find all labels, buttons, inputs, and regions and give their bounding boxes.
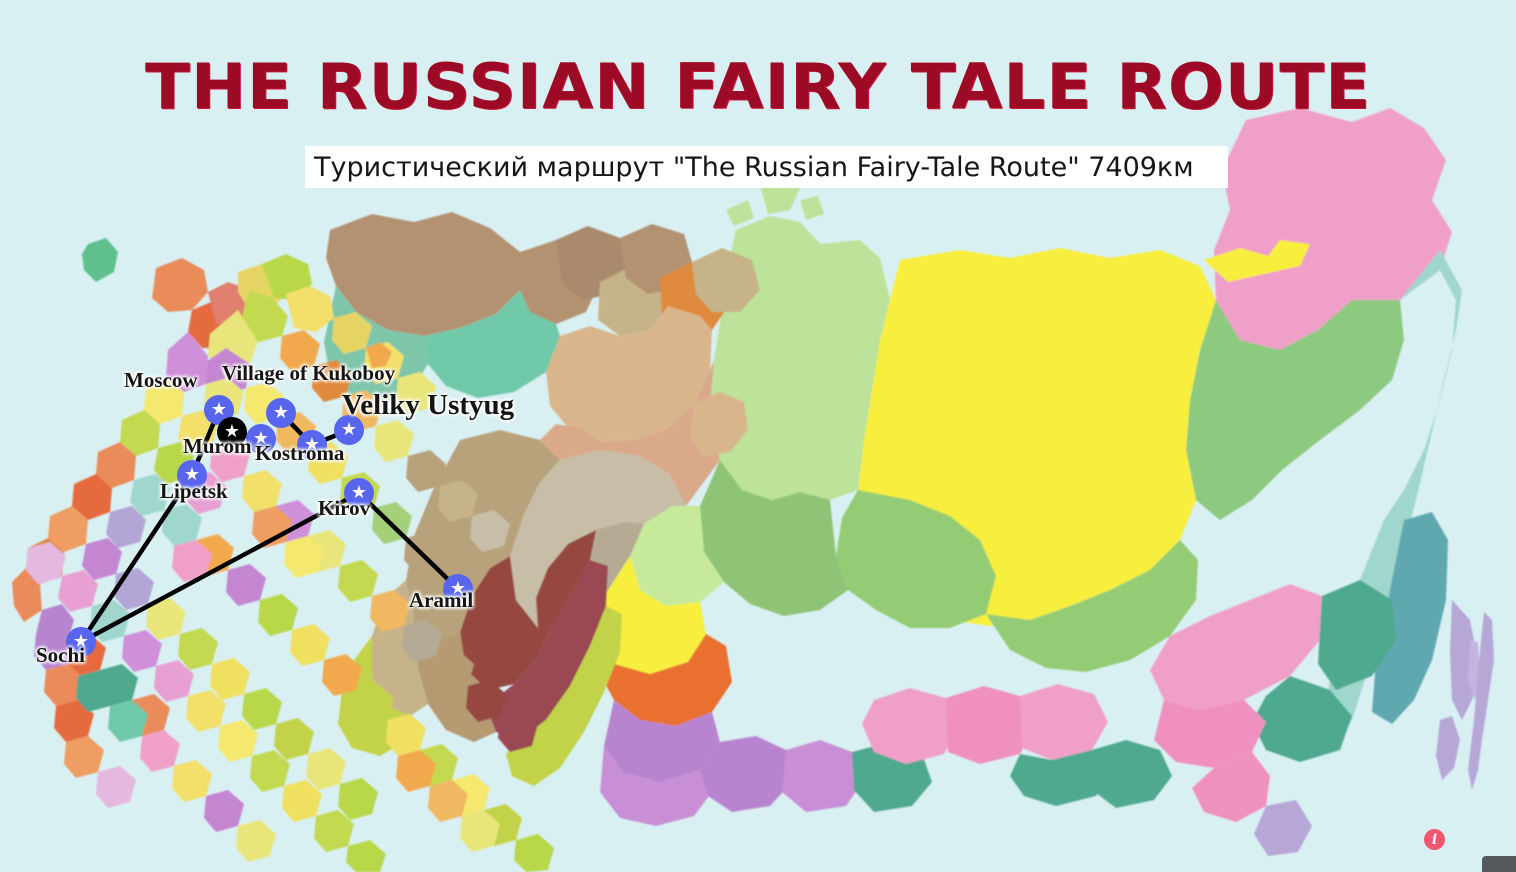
city-label-aramil: Aramil — [409, 588, 473, 613]
city-marker-village-of-kukoboy[interactable]: ★ — [266, 398, 296, 428]
city-label-moscow: Moscow — [124, 368, 197, 393]
city-label-murom: Murom — [183, 434, 251, 459]
map-screenshot: THE RUSSIAN FAIRY TALE ROUTE Туристическ… — [0, 0, 1516, 872]
subtitle-text: Туристический маршрут "The Russian Fairy… — [305, 152, 1194, 183]
attribution-bar[interactable] — [1482, 856, 1516, 872]
city-label-kirov: Kirov — [318, 496, 370, 521]
city-label-veliky-ustyug: Veliky Ustyug — [342, 389, 514, 422]
city-label-village-of-kukoboy: Village of Kukoboy — [222, 361, 395, 386]
info-icon[interactable]: i — [1424, 829, 1445, 850]
star-icon: ★ — [211, 400, 227, 418]
star-icon: ★ — [341, 420, 357, 438]
city-label-lipetsk: Lipetsk — [160, 479, 228, 504]
city-label-sochi: Sochi — [36, 643, 85, 668]
star-icon: ★ — [273, 403, 289, 421]
page-title: THE RUSSIAN FAIRY TALE ROUTE — [0, 56, 1516, 118]
city-label-kostroma: Kostroma — [255, 441, 344, 466]
subtitle-band: Туристический маршрут "The Russian Fairy… — [305, 146, 1228, 188]
